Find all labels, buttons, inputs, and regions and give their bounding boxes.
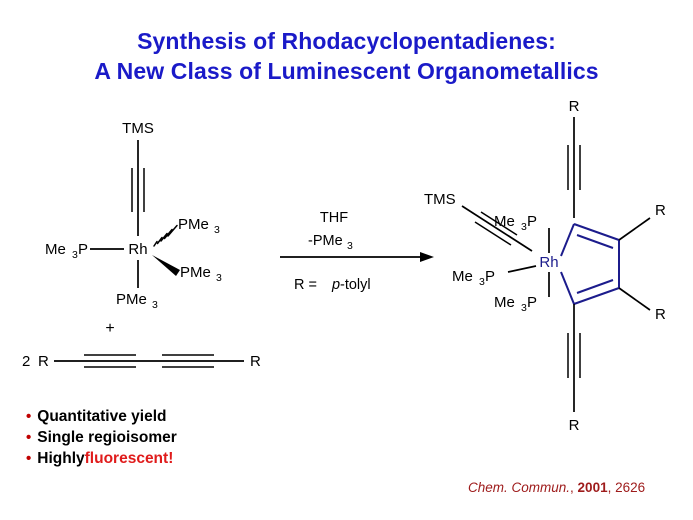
list-item: • Quantitative yield [26, 406, 177, 427]
bullet-marker-icon: • [26, 427, 31, 448]
product-bond-ring-r-lower [619, 288, 650, 310]
reactant-ligand-left-label: Me [45, 241, 66, 258]
reactant-ligand-left: Me 3 P [45, 241, 88, 261]
conditions-byproduct: -PMe 3 [308, 233, 353, 252]
product-ligand-top-tail: P [527, 213, 537, 230]
list-item: • Single regioisomer [26, 427, 177, 448]
slide-canvas: Synthesis of Rhodacyclopentadienes: A Ne… [0, 0, 693, 520]
reactant-ligand-left-tail: P [78, 241, 88, 258]
reactant-ligand-upper-right-sub: 3 [214, 224, 220, 236]
reactant-rh-label: Rh [128, 241, 147, 258]
reactant-ligand-lower-right-label: PMe [180, 264, 211, 281]
product-top-r-label: R [569, 98, 580, 115]
highlights-list: • Quantitative yield • Single regioisome… [26, 406, 177, 469]
list-item-label: Quantitative yield [37, 406, 166, 427]
citation-journal: Chem. Commun. [468, 480, 570, 495]
reaction-arrow-head [420, 252, 434, 262]
diyne-right-r-label: R [250, 353, 261, 370]
list-item: • Highly fluorescent! [26, 448, 177, 469]
citation-sep-2: , [608, 480, 616, 495]
conditions-byproduct-sub: 3 [347, 240, 353, 252]
product-ligand-bottom-label: Me [494, 294, 515, 311]
reactants-plus-sign: + [105, 320, 114, 337]
citation-page: 2626 [615, 480, 645, 495]
conditions-r-definition: R = p -tolyl [294, 277, 371, 293]
product-ring-r-lower-label: R [655, 306, 666, 323]
conditions-r-suffix: -tolyl [340, 277, 371, 293]
conditions-byproduct-label: -PMe [308, 233, 343, 249]
ring-bond-c1-c2 [574, 224, 619, 240]
product-ligand-bottom: Me 3 [494, 294, 527, 314]
list-item-highlight: fluorescent! [85, 448, 174, 469]
reaction-arrow-group: THF -PMe 3 R = p -tolyl [280, 210, 434, 293]
reactant-ligand-lower-right: PMe 3 [180, 264, 222, 284]
diyne-structure: 2 R R [22, 353, 261, 370]
list-item-label: Highly [37, 448, 84, 469]
diyne-left-r-label: R [38, 353, 49, 370]
list-item-label: Single regioisomer [37, 427, 177, 448]
reactant-bond-hashed-wedge [154, 226, 177, 247]
bullet-marker-icon: • [26, 448, 31, 469]
reactant-ligand-upper-right: PMe 3 [178, 216, 220, 236]
reactant-ligand-bottom-sub: 3 [152, 299, 158, 311]
product-structure: R TMS Rh Me 3 P Me 3 P [424, 98, 666, 434]
conditions-solvent: THF [320, 210, 348, 226]
ring-bond-c4-rh [561, 272, 574, 304]
citation-sep-1: , [570, 480, 578, 495]
product-ligand-mid: Me 3 [452, 268, 485, 288]
citation-year: 2001 [578, 480, 608, 495]
product-tms-label: TMS [424, 191, 456, 208]
reactant-bond-solid-wedge [152, 255, 180, 276]
reactant-ligand-lower-right-sub: 3 [216, 272, 222, 284]
reactant-structure: TMS Rh Me 3 P PMe 3 [45, 120, 222, 311]
conditions-r-prefix: R = [294, 277, 317, 293]
bullet-marker-icon: • [26, 406, 31, 427]
ring-bond-c3-c4 [574, 288, 619, 304]
reactant-ligand-upper-right-label: PMe [178, 216, 209, 233]
product-bottom-r-label: R [569, 417, 580, 434]
product-ligand-mid-label: Me [452, 268, 473, 285]
product-bond-ring-r-upper [619, 218, 650, 240]
reactant-tms-label: TMS [122, 120, 154, 137]
product-ligand-bottom-tail: P [527, 294, 537, 311]
conditions-r-italic: p [331, 277, 340, 293]
product-bond-mid-pme3 [508, 266, 536, 272]
ring-bond-rh-c1 [561, 224, 574, 256]
diyne-stoichiometry: 2 [22, 353, 30, 370]
product-rh-label: Rh [539, 254, 558, 271]
reactant-ligand-bottom-label: PMe [116, 291, 147, 308]
reactant-ligand-bottom: PMe 3 [116, 291, 158, 311]
product-ligand-top-label: Me [494, 213, 515, 230]
citation: Chem. Commun., 2001, 2626 [468, 480, 645, 495]
product-ligand-mid-tail: P [485, 268, 495, 285]
product-ring-r-upper-label: R [655, 202, 666, 219]
